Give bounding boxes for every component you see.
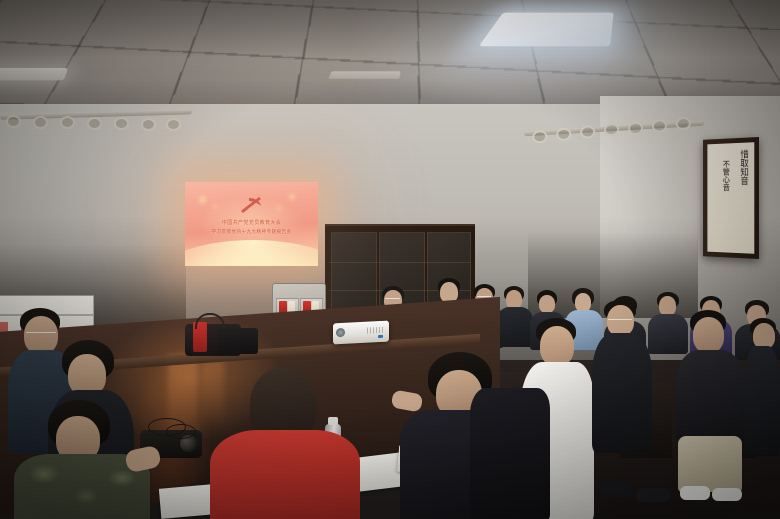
bookcase-door-left[interactable] [331,232,377,316]
meeting-room-photo: 中国共产党党员教育大会 学习贯彻党的十九大精神专题报告会 惜取知音 不管心音 [0,0,780,519]
ceiling-light-panel-left [0,68,68,80]
shoe-dark-1 [600,482,634,497]
white-sneaker-right [712,488,742,501]
slide-arc-graphic [185,240,318,266]
projection-screen: 中国共产党党员教育大会 学习贯彻党的十九大精神专题报告会 [185,182,318,266]
person-audience-5 [744,318,780,458]
projector[interactable] [333,321,389,345]
person-foreground-right [470,388,550,519]
khaki-pants [678,436,742,492]
shoe-dark-2 [636,488,670,502]
person-man-glasses-dark-coat [592,300,652,450]
framed-calligraphy-scroll: 惜取知音 不管心音 [703,137,759,259]
camera-cable-2 [166,424,196,439]
projector-power-button[interactable] [378,335,383,338]
slide-title-line-1: 中国共产党党员教育大会 [185,219,318,226]
party-emblem-icon [239,195,265,214]
slide-title-line-2: 学习贯彻党的十九大精神专题报告会 [185,229,318,235]
person-red-hoodie [210,368,360,519]
white-sneaker-left [680,486,710,500]
black-handbag[interactable] [218,328,258,354]
calligraphy-text-2: 不管心音 [721,160,731,191]
ceiling-light-panel-far [328,71,401,79]
ceiling-light-panel-main [479,13,614,47]
projector-vent [367,327,385,334]
projector-lens-icon [336,328,345,337]
person-young-man-khaki [676,310,744,500]
calligraphy-text: 惜取知音 [738,149,748,185]
